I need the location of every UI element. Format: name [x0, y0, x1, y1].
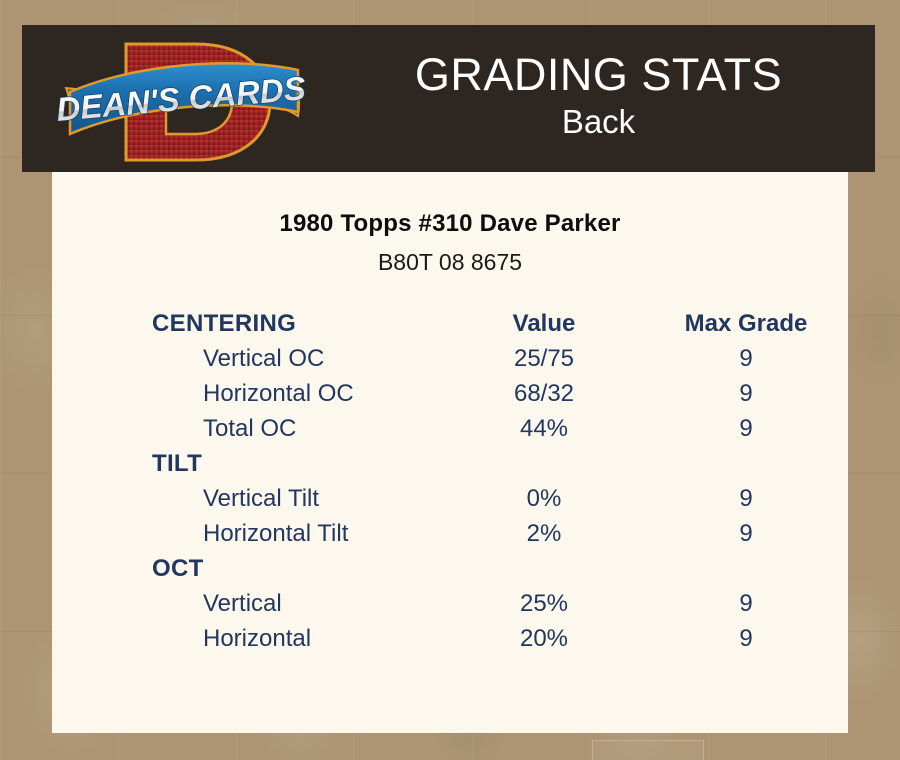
section-row-tilt: TILT — [52, 446, 848, 481]
row-grade: 9 — [644, 621, 848, 656]
table-row: Horizontal Tilt 2% 9 — [52, 516, 848, 551]
stats-table-body: CENTERING Value Max Grade Vertical OC 25… — [52, 306, 848, 656]
row-label: Vertical OC — [52, 341, 444, 376]
table-row: Vertical 25% 9 — [52, 586, 848, 621]
section-spacer — [444, 446, 644, 481]
table-header-row: CENTERING Value Max Grade — [52, 306, 848, 341]
section-spacer — [444, 551, 644, 586]
column-header-value: Value — [444, 306, 644, 341]
row-label: Horizontal OC — [52, 376, 444, 411]
table-row: Horizontal 20% 9 — [52, 621, 848, 656]
row-value: 68/32 — [444, 376, 644, 411]
header-titles: GRADING STATS Back — [322, 25, 875, 172]
row-grade: 9 — [644, 481, 848, 516]
section-header-centering: CENTERING — [52, 306, 444, 341]
header-bar: DEAN'S CARDS GRADING STATS Back — [22, 25, 875, 172]
table-row: Vertical OC 25/75 9 — [52, 341, 848, 376]
section-header-tilt: TILT — [52, 446, 444, 481]
row-label: Vertical — [52, 586, 444, 621]
row-grade: 9 — [644, 411, 848, 446]
row-grade: 9 — [644, 376, 848, 411]
table-row: Total OC 44% 9 — [52, 411, 848, 446]
section-header-oct: OCT — [52, 551, 444, 586]
row-value: 25% — [444, 586, 644, 621]
row-grade: 9 — [644, 516, 848, 551]
page-title: GRADING STATS — [415, 51, 782, 98]
row-value: 2% — [444, 516, 644, 551]
section-spacer — [644, 446, 848, 481]
row-grade: 9 — [644, 586, 848, 621]
card-serial-number: B80T 08 8675 — [52, 249, 848, 276]
table-row: Horizontal OC 68/32 9 — [52, 376, 848, 411]
row-label: Horizontal Tilt — [52, 516, 444, 551]
page-subtitle: Back — [562, 101, 635, 142]
deans-cards-logo: DEAN'S CARDS — [48, 30, 318, 170]
content-panel: 1980 Topps #310 Dave Parker B80T 08 8675… — [52, 172, 848, 733]
row-value: 20% — [444, 621, 644, 656]
card-title: 1980 Topps #310 Dave Parker — [52, 210, 848, 238]
row-value: 25/75 — [444, 341, 644, 376]
row-value: 0% — [444, 481, 644, 516]
row-grade: 9 — [644, 341, 848, 376]
section-row-oct: OCT — [52, 551, 848, 586]
grading-stats-table: CENTERING Value Max Grade Vertical OC 25… — [52, 306, 848, 656]
section-spacer — [644, 551, 848, 586]
row-value: 44% — [444, 411, 644, 446]
row-label: Horizontal — [52, 621, 444, 656]
logo-svg: DEAN'S CARDS — [48, 30, 318, 170]
row-label: Vertical Tilt — [52, 481, 444, 516]
row-label: Total OC — [52, 411, 444, 446]
table-row: Vertical Tilt 0% 9 — [52, 481, 848, 516]
column-header-max-grade: Max Grade — [644, 306, 848, 341]
